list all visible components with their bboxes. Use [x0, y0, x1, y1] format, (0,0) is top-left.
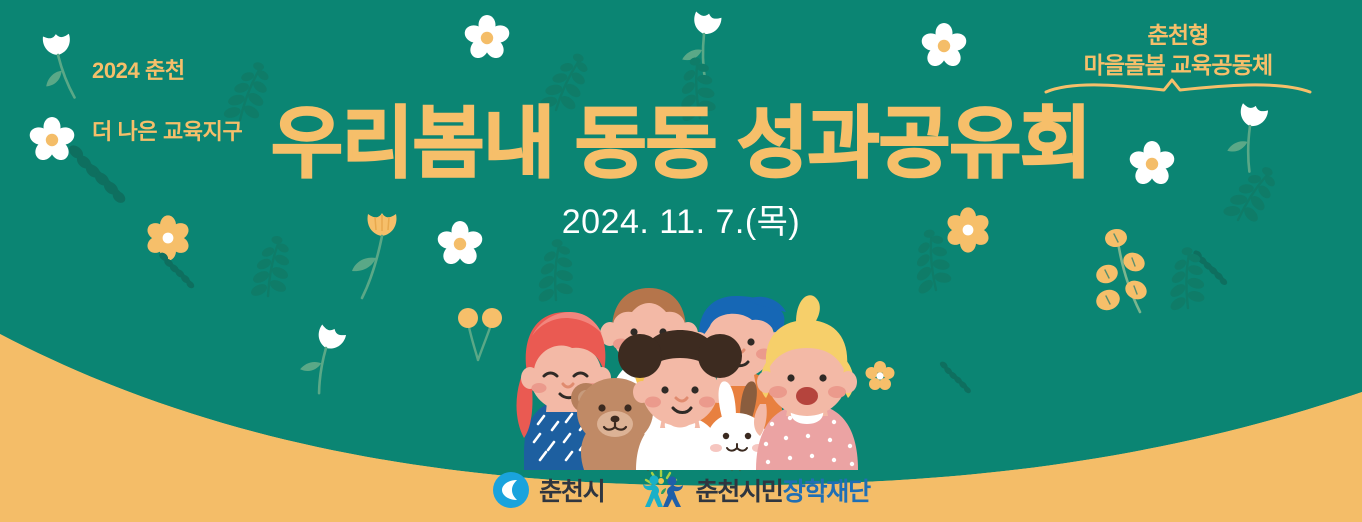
foundation-label-part-2: 장학재단: [783, 478, 870, 506]
footer-logos: 춘천시 춘천시민장학재단: [0, 464, 1362, 516]
chuncheon-scholarship-foundation-logo[interactable]: 춘천시민장학재단: [639, 470, 870, 510]
foreground-arc: [0, 0, 1362, 522]
event-banner: 2024 춘천 더 나은 교육지구 춘천형 마을돌봄 교육공동체 우리봄내 동동…: [0, 0, 1362, 522]
chuncheon-city-logo-label: 춘천시: [539, 472, 604, 508]
scholarship-foundation-mark-icon: [639, 470, 687, 510]
chuncheon-city-mark-icon: [492, 471, 530, 509]
foundation-label-part-1: 춘천시민: [696, 478, 783, 506]
chuncheon-city-logo[interactable]: 춘천시: [492, 471, 604, 509]
foundation-logo-label: 춘천시민장학재단: [696, 472, 870, 508]
